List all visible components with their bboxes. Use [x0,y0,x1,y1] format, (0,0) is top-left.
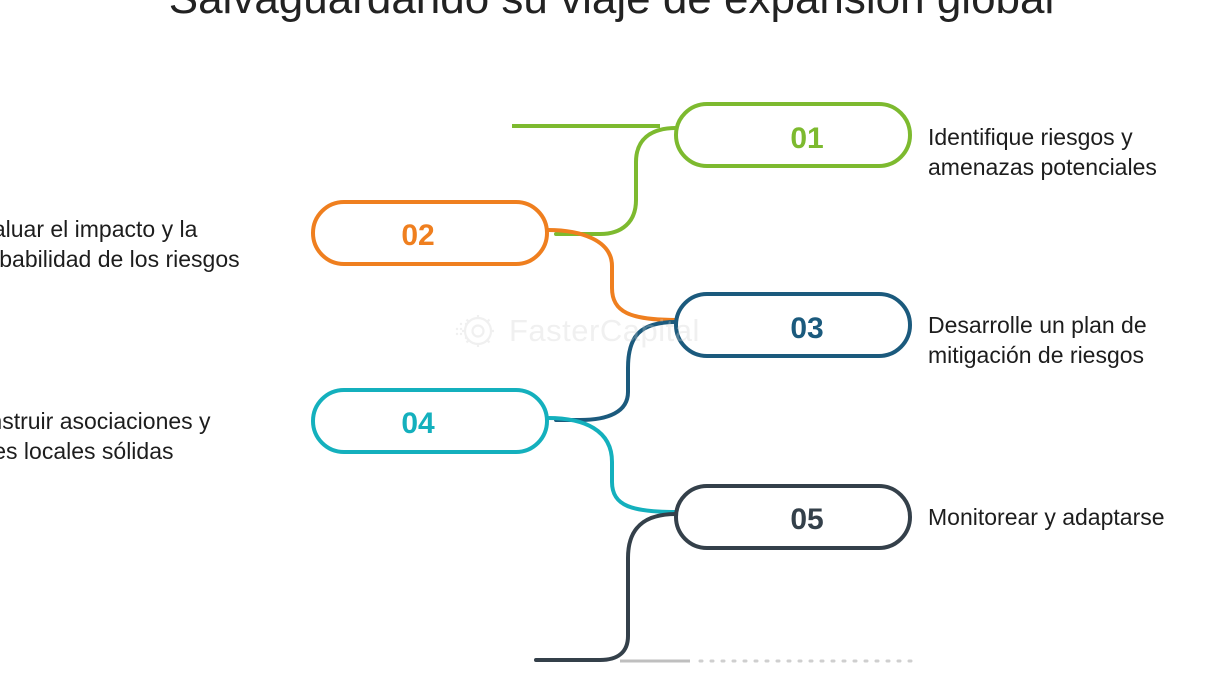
connector-01-to-02 [556,128,676,234]
slide-canvas: Salvaguardando su viaje de expansión glo… [0,0,1223,683]
step-number-03: 03 [790,312,823,345]
connector-04-to-05 [548,418,676,512]
step-label-05: Monitorear y adaptarse [928,502,1223,532]
step-label-01: Identifique riesgos y amenazas potencial… [928,122,1218,182]
step-number-02: 02 [401,219,434,252]
step-label-02: Evaluar el impacto y la probabilidad de … [0,214,286,274]
connector-03-to-04 [556,322,676,420]
step-number-05: 05 [790,503,823,536]
connector-02-to-03 [548,230,676,320]
connector-05-tail [536,514,676,660]
step-number-01: 01 [790,122,823,155]
step-number-04: 04 [401,407,435,440]
step-label-03: Desarrolle un plan de mitigación de ries… [928,310,1218,370]
step-label-04: Construir asociaciones y redes locales s… [0,406,260,466]
